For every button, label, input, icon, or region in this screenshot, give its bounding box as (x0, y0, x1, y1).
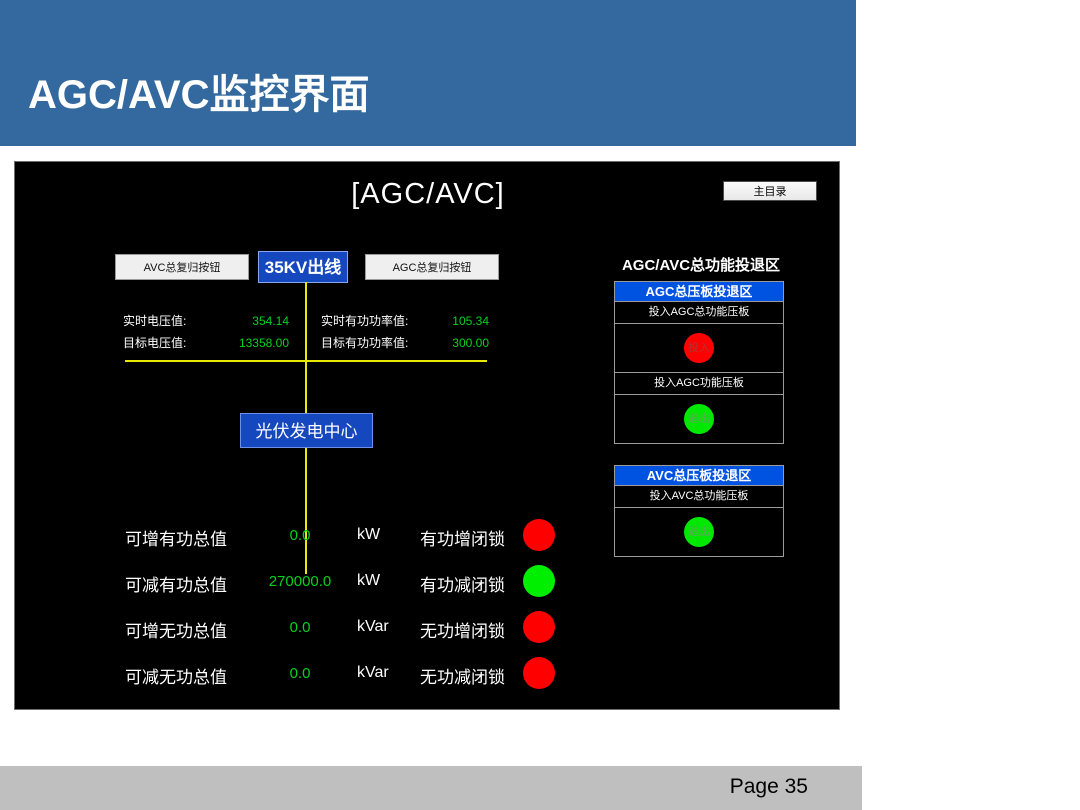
page-number: Page 35 (730, 775, 808, 799)
realtime-active-power-readout: 实时有功功率值:105.34 (321, 312, 489, 329)
status-lamp-icon (523, 657, 555, 689)
total-name: 可减无功总值 (125, 663, 245, 688)
avc-master-plate-label: 投入AVC总功能压板 (615, 486, 783, 508)
agc-master-plate-lamp-icon[interactable]: 投入 (684, 333, 714, 363)
line-35kv-button[interactable]: 35KV出线 (258, 251, 348, 283)
target-active-power-label: 目标有功功率值: (321, 334, 431, 351)
busbar-horizontal-line (125, 360, 487, 362)
realtime-active-power-label: 实时有功功率值: (321, 312, 431, 329)
total-lock-label: 无功增闭锁 (420, 617, 530, 642)
hmi-title: [AGC/AVC] (15, 178, 840, 211)
avc-reset-button[interactable]: AVC总复归按钮 (115, 254, 249, 280)
status-lamp-icon (523, 565, 555, 597)
agc-function-plate-lamp-icon[interactable]: 退出 (684, 404, 714, 434)
right-zone-title: AGC/AVC总功能投退区 (601, 254, 801, 275)
total-unit: kVar (357, 664, 411, 682)
avc-plate-panel-header: AVC总压板投退区 (615, 466, 783, 486)
main-menu-button[interactable]: 主目录 (723, 181, 817, 201)
target-voltage-readout: 目标电压值:13358.00 (123, 334, 289, 351)
target-voltage-label: 目标电压值: (123, 334, 219, 351)
hmi-screenshot-panel: [AGC/AVC] 主目录 AVC总复归按钮 35KV出线 AGC总复归按钮 光… (14, 161, 840, 710)
realtime-voltage-value: 354.14 (219, 314, 289, 328)
total-lock-label: 无功减闭锁 (420, 663, 530, 688)
table-row: 可增无功总值 0.0 kVar 无功增闭锁 (125, 609, 535, 655)
totals-table: 可增有功总值 0.0 kW 有功增闭锁 可减有功总值 270000.0 kW 有… (125, 517, 535, 701)
status-lamp-icon (523, 611, 555, 643)
avc-plate-panel: AVC总压板投退区 投入AVC总功能压板 退出 (614, 465, 784, 557)
agc-master-plate-label: 投入AGC总功能压板 (615, 302, 783, 324)
slide-header-band: AGC/AVC监控界面 (0, 0, 856, 146)
total-value: 0.0 (250, 527, 350, 544)
table-row: 可减有功总值 270000.0 kW 有功减闭锁 (125, 563, 535, 609)
realtime-voltage-readout: 实时电压值:354.14 (123, 312, 289, 329)
total-name: 可减有功总值 (125, 571, 245, 596)
agc-function-plate-lamp-cell[interactable]: 退出 (615, 395, 783, 443)
table-row: 可增有功总值 0.0 kW 有功增闭锁 (125, 517, 535, 563)
total-unit: kW (357, 526, 411, 544)
total-lock-label: 有功增闭锁 (420, 525, 530, 550)
total-lock-label: 有功减闭锁 (420, 571, 530, 596)
agc-master-plate-lamp-cell[interactable]: 投入 (615, 324, 783, 373)
pv-center-button[interactable]: 光伏发电中心 (240, 413, 373, 448)
avc-master-plate-lamp-cell[interactable]: 退出 (615, 508, 783, 556)
slide-footer-band: Page 35 (0, 766, 862, 810)
realtime-voltage-label: 实时电压值: (123, 312, 219, 329)
total-name: 可增有功总值 (125, 525, 245, 550)
agc-plate-panel: AGC总压板投退区 投入AGC总功能压板 投入 投入AGC功能压板 退出 (614, 281, 784, 444)
table-row: 可减无功总值 0.0 kVar 无功减闭锁 (125, 655, 535, 701)
total-unit: kVar (357, 618, 411, 636)
page-title: AGC/AVC监控界面 (28, 62, 369, 120)
total-unit: kW (357, 572, 411, 590)
target-voltage-value: 13358.00 (219, 336, 289, 350)
agc-function-plate-label: 投入AGC功能压板 (615, 373, 783, 395)
status-lamp-icon (523, 519, 555, 551)
total-value: 270000.0 (250, 573, 350, 590)
agc-plate-panel-header: AGC总压板投退区 (615, 282, 783, 302)
total-value: 0.0 (250, 619, 350, 636)
total-name: 可增无功总值 (125, 617, 245, 642)
agc-reset-button[interactable]: AGC总复归按钮 (365, 254, 499, 280)
total-value: 0.0 (250, 665, 350, 682)
realtime-active-power-value: 105.34 (431, 314, 489, 328)
avc-master-plate-lamp-icon[interactable]: 退出 (684, 517, 714, 547)
target-active-power-readout: 目标有功功率值:300.00 (321, 334, 489, 351)
target-active-power-value: 300.00 (431, 336, 489, 350)
